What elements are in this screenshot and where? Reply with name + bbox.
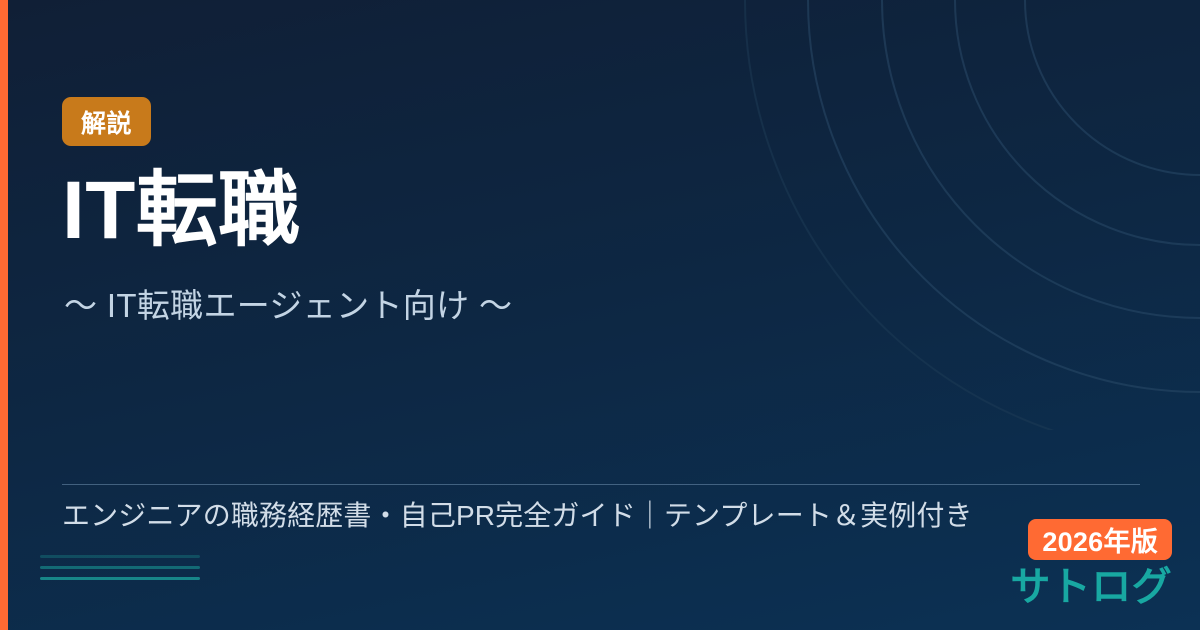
- brand-block: 2026年版 サトログ: [1010, 519, 1172, 608]
- category-badge: 解説: [62, 97, 151, 146]
- article-description: エンジニアの職務経歴書・自己PR完全ガイド｜テンプレート＆実例付き: [62, 498, 973, 534]
- decorative-rules: [40, 555, 200, 580]
- page-title: IT転職: [62, 168, 301, 254]
- left-accent-bar: [0, 0, 8, 630]
- decorative-rule-2: [40, 566, 200, 569]
- content-divider: [62, 484, 1140, 485]
- year-badge: 2026年版: [1028, 519, 1172, 560]
- decorative-rule-3: [40, 577, 200, 580]
- decorative-rule-1: [40, 555, 200, 558]
- site-logo-text: サトログ: [1010, 566, 1172, 608]
- page-subtitle: 〜 IT転職エージェント向け 〜: [64, 286, 512, 326]
- og-image-card: 解説 IT転職 〜 IT転職エージェント向け 〜 エンジニアの職務経歴書・自己P…: [0, 0, 1200, 630]
